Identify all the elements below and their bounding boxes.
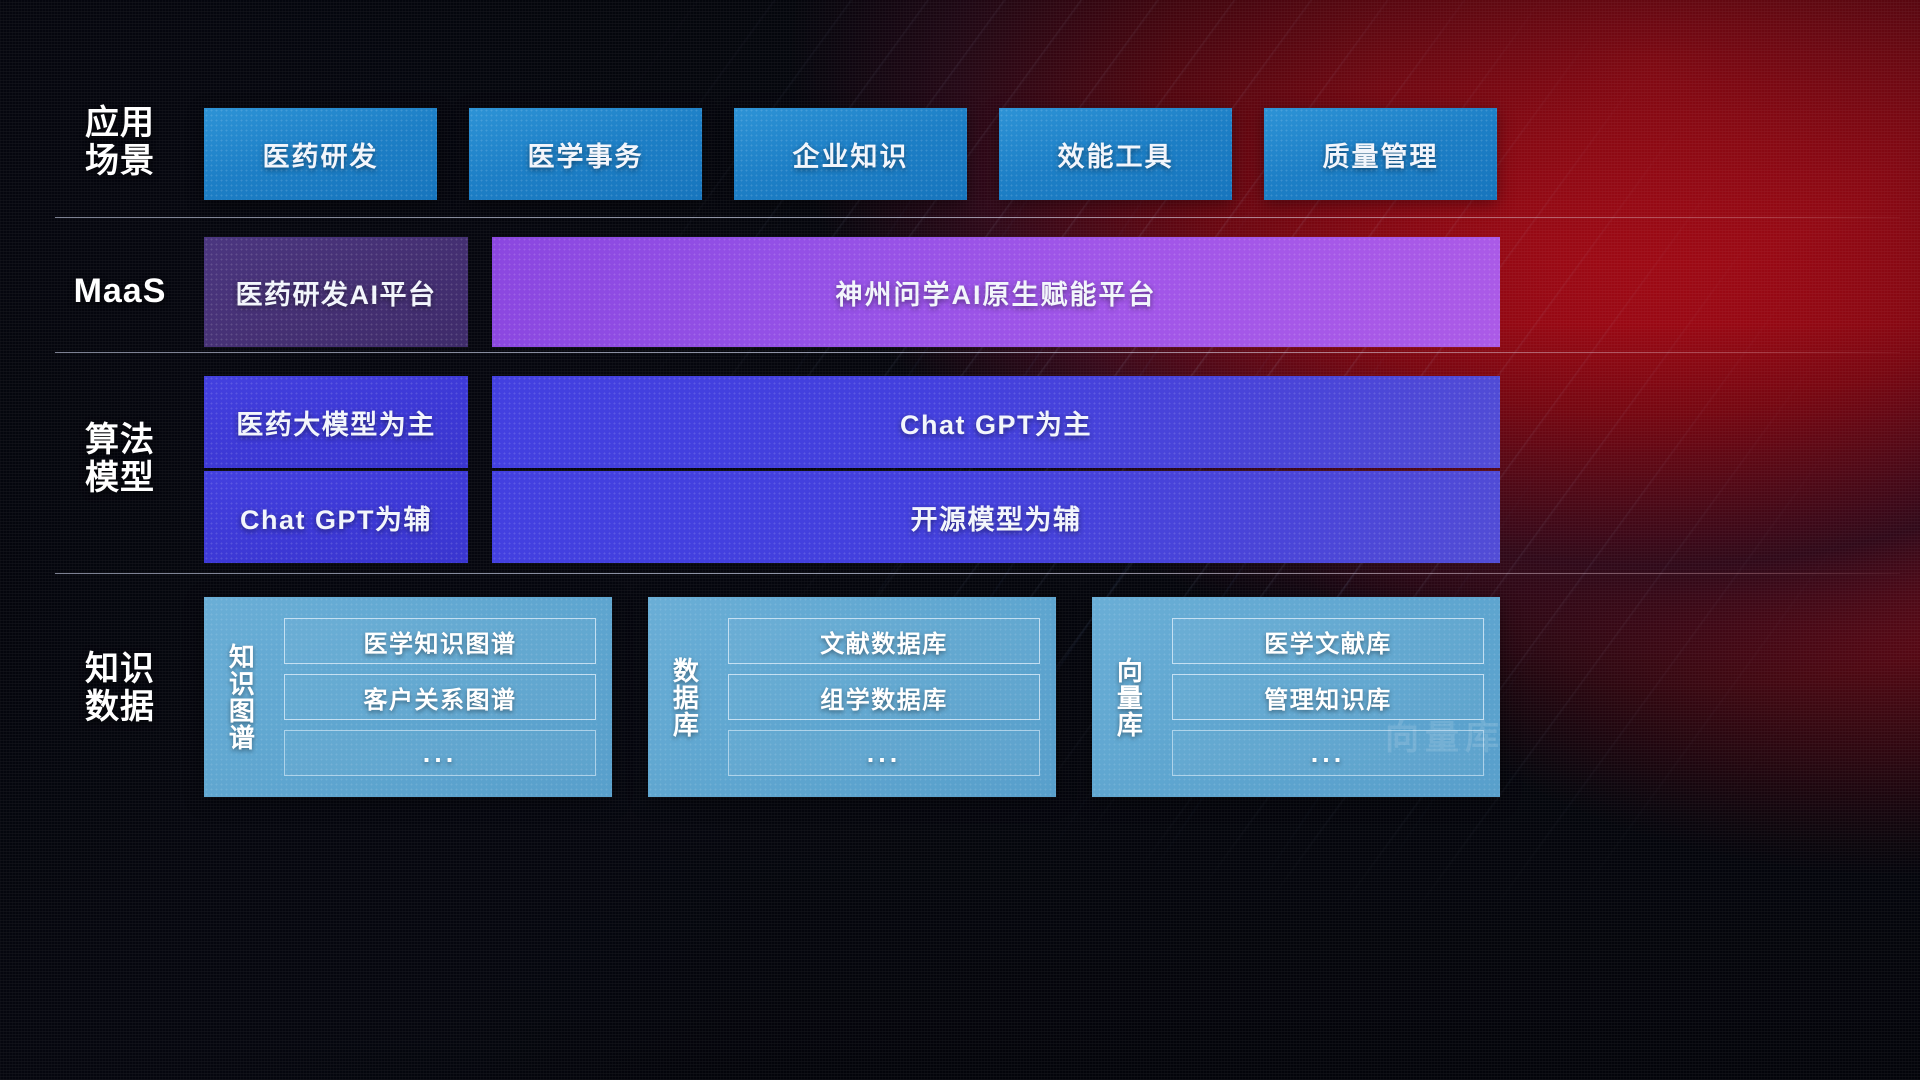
app-scenario-label: 企业知识 — [793, 135, 909, 174]
slide-canvas: 应用 场景 医药研发 医学事务 企业知识 效能工具 质量管理 MaaS 医药研发… — [0, 0, 1920, 1080]
algorithm-box-left-primary[interactable]: 医药大模型为主 — [204, 376, 468, 468]
algorithm-label: Chat GPT为辅 — [240, 498, 432, 537]
knowledge-item-more[interactable]: ... — [1172, 730, 1484, 776]
knowledge-group-items: 医学文献库 管理知识库 ... — [1164, 597, 1500, 797]
app-scenario-label: 医学事务 — [528, 135, 644, 174]
app-scenario-label: 质量管理 — [1323, 135, 1439, 174]
app-scenario-box-1[interactable]: 医药研发 — [204, 108, 437, 200]
row-label-maas: MaaS — [55, 272, 185, 310]
app-scenario-box-2[interactable]: 医学事务 — [469, 108, 702, 200]
knowledge-item[interactable]: 组学数据库 — [728, 674, 1040, 720]
knowledge-group-database[interactable]: 数据库 文献数据库 组学数据库 ... — [648, 597, 1056, 797]
maas-platform-label: 神州问学AI原生赋能平台 — [836, 273, 1157, 312]
maas-platform-box-left[interactable]: 医药研发AI平台 — [204, 237, 468, 347]
maas-platform-label: 医药研发AI平台 — [236, 273, 437, 312]
knowledge-group-title: 知识图谱 — [204, 597, 276, 797]
knowledge-item[interactable]: 医学知识图谱 — [284, 618, 596, 664]
app-scenario-label: 医药研发 — [263, 135, 379, 174]
divider-algorithm-knowledge — [55, 573, 1900, 574]
row-label-knowledge: 知识 数据 — [55, 650, 185, 726]
app-scenario-box-4[interactable]: 效能工具 — [999, 108, 1232, 200]
algorithm-box-right-primary[interactable]: Chat GPT为主 — [492, 376, 1500, 468]
knowledge-item-more[interactable]: ... — [728, 730, 1040, 776]
app-scenario-box-3[interactable]: 企业知识 — [734, 108, 967, 200]
divider-application-maas — [55, 217, 1900, 218]
divider-maas-algorithm — [55, 352, 1900, 353]
knowledge-group-knowledge-graph[interactable]: 知识图谱 医学知识图谱 客户关系图谱 ... — [204, 597, 612, 797]
knowledge-item-more[interactable]: ... — [284, 730, 596, 776]
row-label-application: 应用 场景 — [55, 104, 185, 180]
row-label-algorithm: 算法 模型 — [55, 421, 185, 497]
knowledge-item[interactable]: 管理知识库 — [1172, 674, 1484, 720]
knowledge-item[interactable]: 客户关系图谱 — [284, 674, 596, 720]
app-scenario-box-5[interactable]: 质量管理 — [1264, 108, 1497, 200]
knowledge-group-items: 文献数据库 组学数据库 ... — [720, 597, 1056, 797]
algorithm-box-left-secondary[interactable]: Chat GPT为辅 — [204, 471, 468, 563]
knowledge-group-vector-store[interactable]: 向量库 医学文献库 管理知识库 ... — [1092, 597, 1500, 797]
knowledge-group-items: 医学知识图谱 客户关系图谱 ... — [276, 597, 612, 797]
algorithm-label: Chat GPT为主 — [900, 403, 1092, 442]
app-scenario-label: 效能工具 — [1058, 135, 1174, 174]
maas-platform-box-right[interactable]: 神州问学AI原生赋能平台 — [492, 237, 1500, 347]
knowledge-group-title: 向量库 — [1092, 597, 1164, 797]
algorithm-box-right-secondary[interactable]: 开源模型为辅 — [492, 471, 1500, 563]
knowledge-group-title: 数据库 — [648, 597, 720, 797]
knowledge-item[interactable]: 医学文献库 — [1172, 618, 1484, 664]
algorithm-label: 医药大模型为主 — [236, 403, 436, 442]
knowledge-item[interactable]: 文献数据库 — [728, 618, 1040, 664]
algorithm-label: 开源模型为辅 — [911, 498, 1082, 537]
